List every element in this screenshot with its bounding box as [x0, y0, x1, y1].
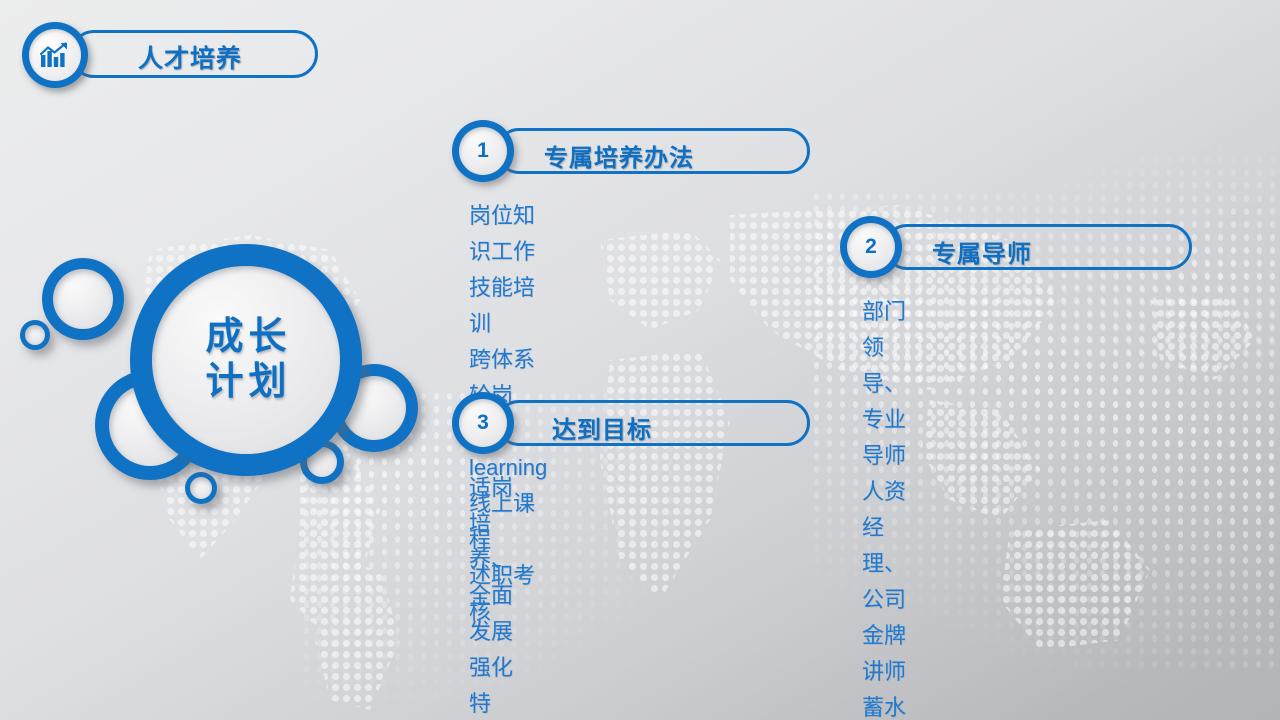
- section-2-number-badge: 2: [840, 216, 902, 278]
- decorative-ring-small-left: [20, 320, 50, 350]
- section-2-heading: 专属导师: [932, 234, 1032, 269]
- growth-plan-main-ring: [130, 244, 362, 476]
- section-1-number-badge: 1: [452, 120, 514, 182]
- section-2-number: 2: [847, 223, 895, 271]
- section-3-number: 3: [459, 399, 507, 447]
- section-3-pill-outline: [496, 400, 810, 446]
- section-2-body: 部门领导、专业导师 人资经理、公司金牌讲师 蓄水池管理员: [862, 294, 906, 720]
- section-3-number-badge: 3: [452, 392, 514, 454]
- slide-canvas: 人才培养 成长 计划: [0, 0, 1280, 720]
- section-1-heading: 专属培养办法: [544, 138, 694, 173]
- ring-hole: [190, 477, 212, 499]
- section-3-body: 适岗培养、全面发展 强化特长、积极进取的成长环境 总结提高选拔人才: [469, 470, 513, 720]
- ring-hole: [25, 325, 45, 345]
- growth-plan-circle-cluster: 成长 计划: [0, 0, 460, 560]
- decorative-ring-small-bottom: [185, 472, 217, 504]
- ring-hole: [53, 269, 113, 329]
- decorative-ring-top-left: [42, 258, 124, 340]
- section-1-number: 1: [459, 127, 507, 175]
- section-3-heading: 达到目标: [552, 410, 652, 445]
- section-2-pill-outline: [884, 224, 1192, 270]
- ring-hole: [152, 266, 340, 454]
